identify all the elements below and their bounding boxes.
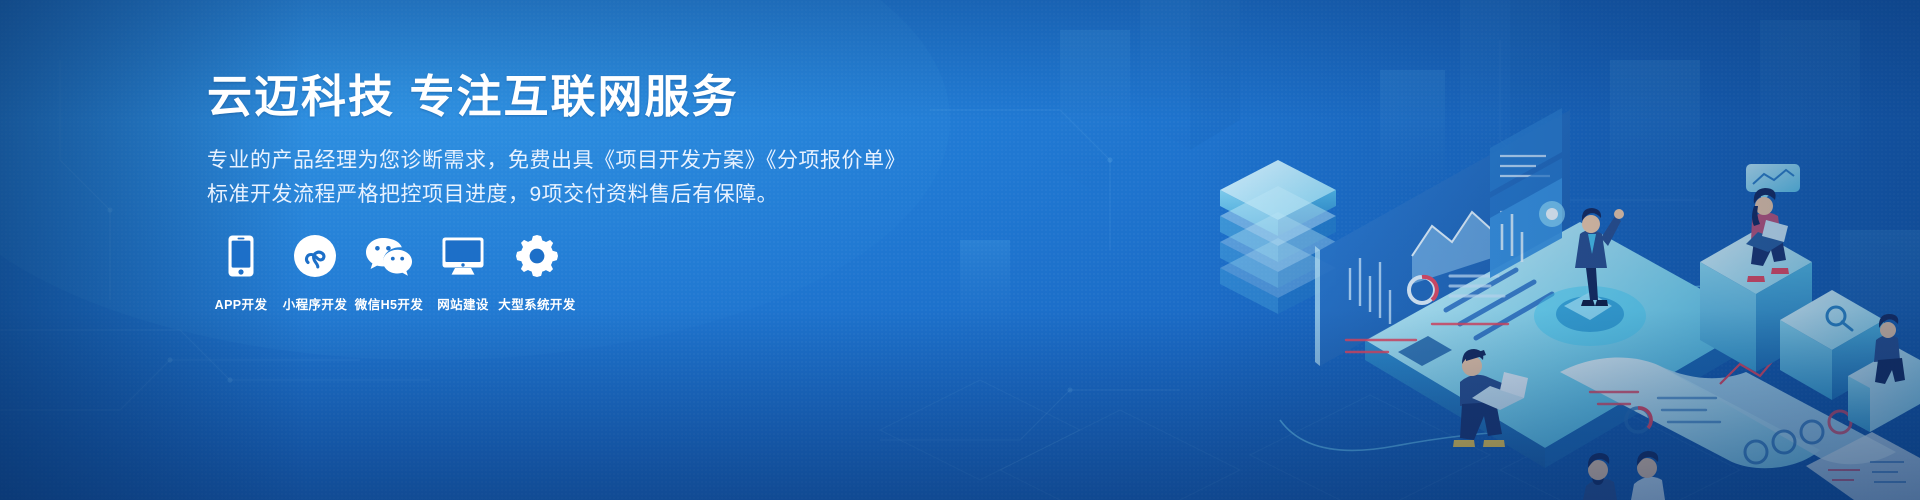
person-bottom-b <box>1631 451 1665 500</box>
service-label: 大型系统开发 <box>498 294 575 313</box>
subtitle-line-2: 标准开发流程严格把控项目进度，9项交付资料售后有保障。 <box>207 178 907 212</box>
page-title: 云迈科技 专注互联网服务 <box>207 72 907 122</box>
hero-copy: 云迈科技 专注互联网服务 专业的产品经理为您诊断需求，免费出具《项目开发方案》《… <box>207 72 907 212</box>
service-label: 网站建设 <box>437 294 489 313</box>
service-label: 微信H5开发 <box>355 294 423 313</box>
service-item-wechat-h5[interactable]: 微信H5开发 <box>353 234 425 313</box>
service-item-website[interactable]: 网站建设 <box>427 234 499 313</box>
monitor-icon <box>442 234 484 278</box>
mini-program-icon <box>294 234 336 278</box>
gear-icon <box>516 234 558 278</box>
hero-illustration <box>1160 0 1920 500</box>
hero-subtitle: 专业的产品经理为您诊断需求，免费出具《项目开发方案》《分项报价单》 标准开发流程… <box>207 144 907 212</box>
service-item-app[interactable]: APP开发 <box>205 234 277 313</box>
wechat-icon <box>366 234 412 278</box>
service-icon-row: APP开发 小程序开发 <box>205 234 575 313</box>
service-label: APP开发 <box>215 294 268 313</box>
person-bottom-a <box>1583 453 1617 500</box>
hero-banner: 云迈科技 专注互联网服务 专业的产品经理为您诊断需求，免费出具《项目开发方案》《… <box>0 0 1920 500</box>
service-item-miniprogram[interactable]: 小程序开发 <box>279 234 351 313</box>
mobile-phone-icon <box>228 234 254 278</box>
service-item-large-system[interactable]: 大型系统开发 <box>501 234 573 313</box>
subtitle-line-1: 专业的产品经理为您诊断需求，免费出具《项目开发方案》《分项报价单》 <box>207 144 907 178</box>
service-label: 小程序开发 <box>283 294 348 313</box>
